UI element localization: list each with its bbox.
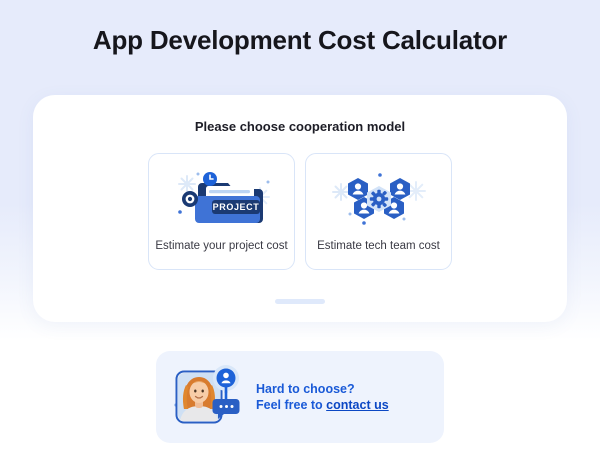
cooperation-model-card: Please choose cooperation model (33, 95, 567, 322)
option-estimate-tech-team-cost[interactable]: Estimate tech team cost (305, 153, 452, 270)
cooperation-options-row: PROJECT Estimate your project cost (148, 153, 452, 270)
contact-us-link[interactable]: contact us (326, 398, 389, 412)
support-agent-avatar (174, 365, 246, 429)
option-label: Estimate your project cost (155, 240, 287, 252)
step-progress-indicator[interactable] (275, 299, 325, 304)
contact-line-2-prefix: Feel free to (256, 398, 326, 412)
option-label: Estimate tech team cost (317, 240, 440, 252)
contact-line-2: Feel free to contact us (256, 397, 389, 413)
project-folder-icon: PROJECT (168, 168, 276, 230)
contact-line-1: Hard to choose? (256, 381, 389, 397)
tech-team-hexagons-icon (328, 168, 430, 230)
section-heading: Please choose cooperation model (33, 119, 567, 134)
page-title: App Development Cost Calculator (0, 25, 600, 56)
contact-support-card[interactable]: Hard to choose? Feel free to contact us (156, 351, 444, 443)
option-estimate-project-cost[interactable]: PROJECT Estimate your project cost (148, 153, 295, 270)
contact-message: Hard to choose? Feel free to contact us (256, 381, 389, 413)
cost-calculator-page: App Development Cost Calculator Please c… (0, 0, 600, 457)
svg-text:PROJECT: PROJECT (212, 202, 259, 212)
